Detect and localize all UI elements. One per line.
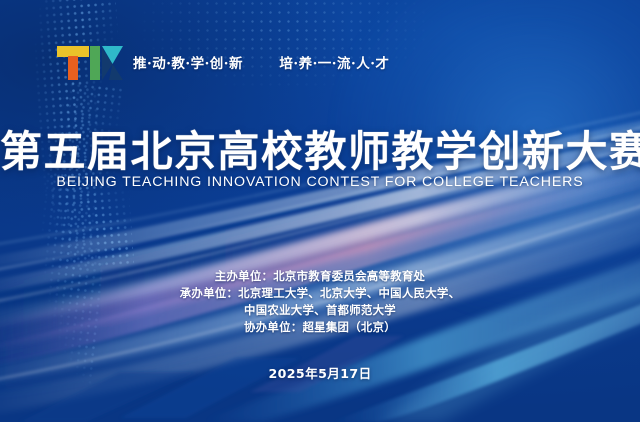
organizer-block: 主办单位：北京市教育委员会高等教育处 承办单位：北京理工大学、北京大学、中国人民… xyxy=(0,268,640,336)
organizer-line-cohost-2: 中国农业大学、首都师范大学 xyxy=(0,302,640,319)
page-subtitle-english: BEIJING TEACHING INNOVATION CONTEST FOR … xyxy=(0,174,640,190)
page-title: 第五届北京高校教师教学创新大赛 xyxy=(0,118,640,179)
tik-logo xyxy=(57,42,123,80)
event-poster: 推·动·教·学·创·新 培·养·一·流·人·才 第五届北京高校教师教学创新大赛 … xyxy=(0,0,640,422)
tagline-right: 培·养·一·流·人·才 xyxy=(279,56,389,72)
organizer-line-supporter: 协办单位：超星集团（北京） xyxy=(0,319,640,336)
organizer-line-cohost-1: 承办单位：北京理工大学、北京大学、中国人民大学、 xyxy=(0,285,640,302)
event-date: 2025年5月17日 xyxy=(0,363,640,382)
tagline-left: 推·动·教·学·创·新 xyxy=(133,56,243,72)
tagline: 推·动·教·学·创·新 培·养·一·流·人·才 xyxy=(133,52,389,72)
organizer-line-host: 主办单位：北京市教育委员会高等教育处 xyxy=(0,268,640,285)
